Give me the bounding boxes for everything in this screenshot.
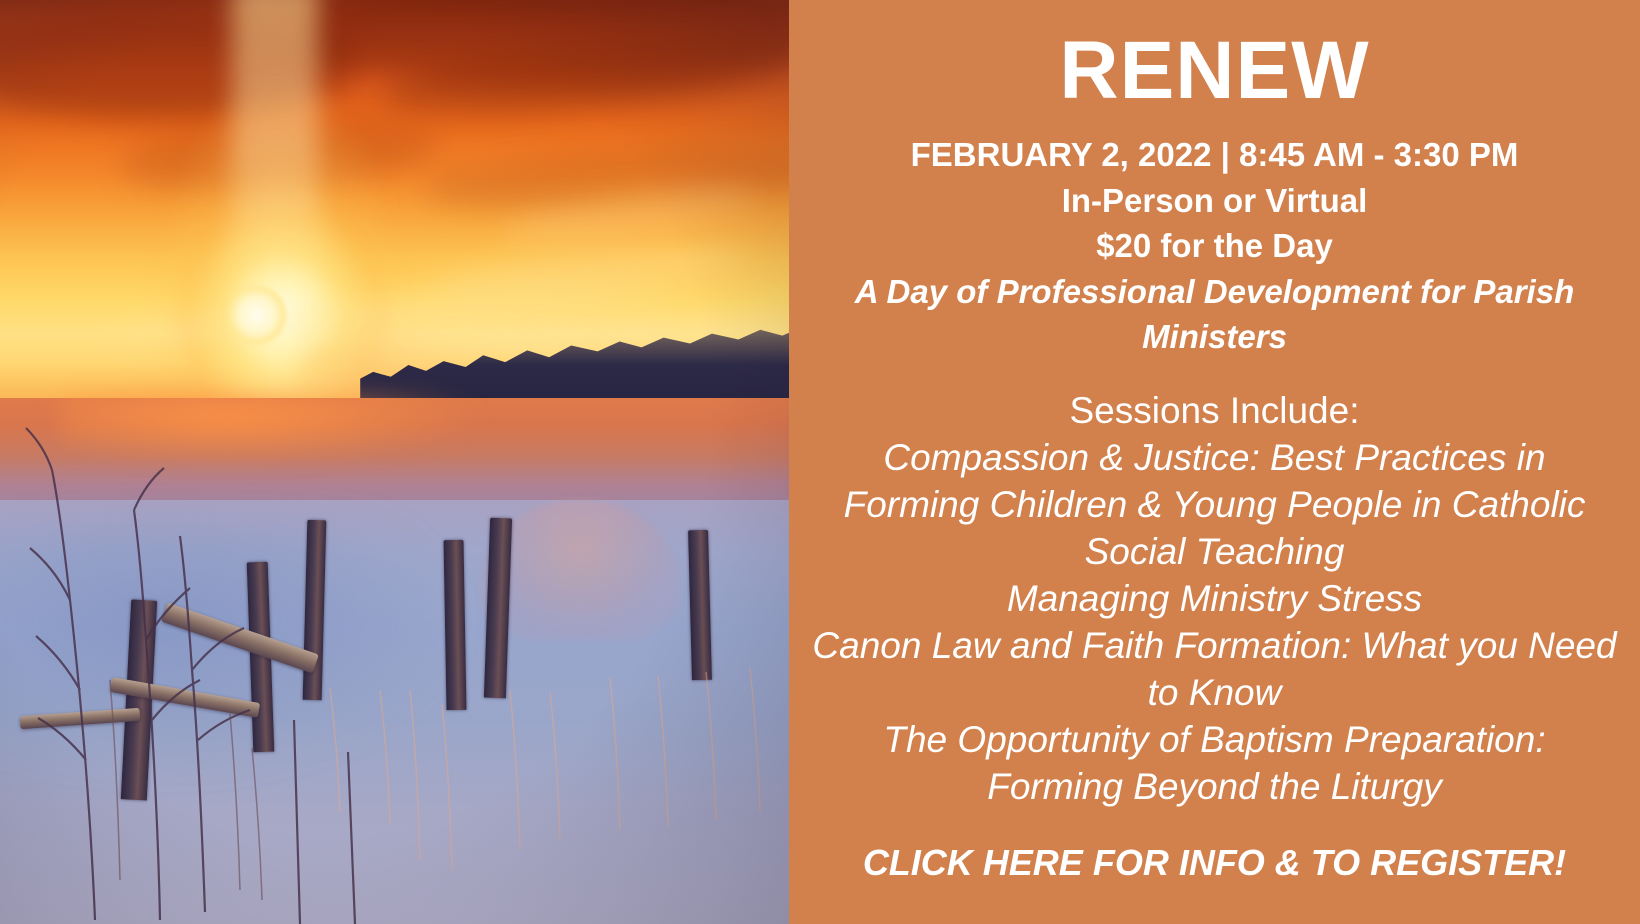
- event-tagline: A Day of Professional Development for Pa…: [811, 269, 1618, 360]
- winter-sunset-fence-photo: [0, 0, 789, 924]
- session-item: Compassion & Justice: Best Practices in …: [811, 435, 1618, 576]
- event-datetime: FEBRUARY 2, 2022 | 8:45 AM - 3:30 PM: [811, 132, 1618, 178]
- event-price: $20 for the Day: [811, 223, 1618, 269]
- session-item: The Opportunity of Baptism Preparation: …: [811, 717, 1618, 811]
- event-details: FEBRUARY 2, 2022 | 8:45 AM - 3:30 PM In-…: [811, 132, 1618, 360]
- page-title: RENEW: [811, 30, 1618, 112]
- renew-event-banner: RENEW FEBRUARY 2, 2022 | 8:45 AM - 3:30 …: [0, 0, 1640, 924]
- session-item: Canon Law and Faith Formation: What you …: [811, 623, 1618, 717]
- bare-twigs: [0, 0, 789, 924]
- event-info-pane: RENEW FEBRUARY 2, 2022 | 8:45 AM - 3:30 …: [789, 0, 1640, 924]
- sessions-list: Sessions Include: Compassion & Justice: …: [811, 388, 1618, 811]
- register-cta-link[interactable]: CLICK HERE FOR INFO & TO REGISTER!: [811, 843, 1618, 883]
- sessions-heading: Sessions Include:: [811, 388, 1618, 435]
- event-format: In-Person or Virtual: [811, 178, 1618, 224]
- session-item: Managing Ministry Stress: [811, 576, 1618, 623]
